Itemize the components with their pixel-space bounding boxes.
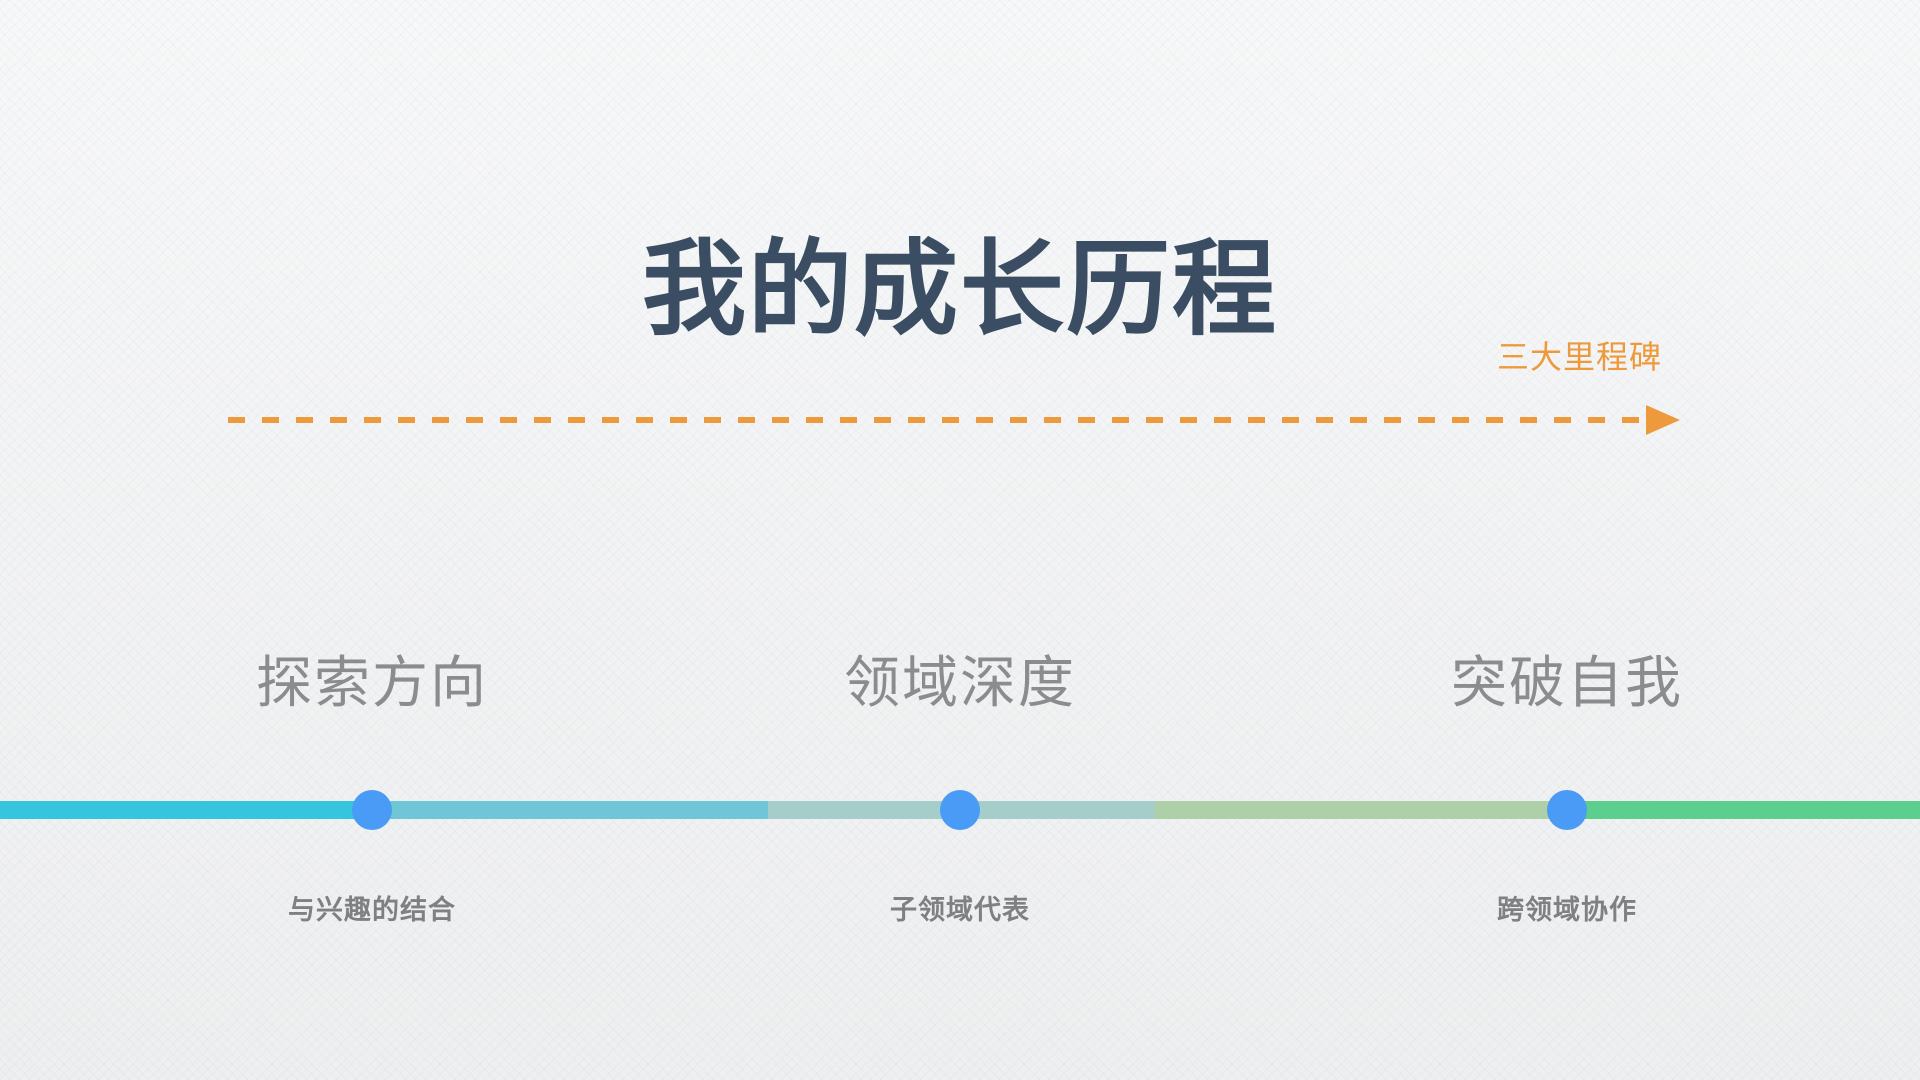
dashed-arrow xyxy=(228,405,1688,435)
milestone-2-title: 领域深度 xyxy=(844,638,1076,719)
dashed-line xyxy=(228,417,1648,423)
arrow-head-icon xyxy=(1646,405,1680,435)
milestone-1-title: 探索方向 xyxy=(256,638,488,719)
segment-green xyxy=(1567,801,1920,819)
milestone-3-caption: 跨领域协作 xyxy=(1497,888,1637,927)
slide-canvas: 我的成长历程 三大里程碑 探索方向领域深度突破自我 与兴趣的结合子领域代表跨领域… xyxy=(0,0,1920,1080)
kicker-subtitle: 三大里程碑 xyxy=(1497,332,1662,378)
page-title: 我的成长历程 xyxy=(0,232,1920,348)
milestone-3-title: 突破自我 xyxy=(1451,638,1683,719)
milestone-1-dot-icon[interactable] xyxy=(352,790,392,830)
segment-teal xyxy=(372,801,768,819)
segment-pale-green xyxy=(1155,801,1567,819)
milestone-2-dot-icon[interactable] xyxy=(940,790,980,830)
milestone-1-caption: 与兴趣的结合 xyxy=(288,888,456,927)
milestone-2-caption: 子领域代表 xyxy=(890,888,1030,927)
milestone-3-dot-icon[interactable] xyxy=(1547,790,1587,830)
segment-cyan xyxy=(0,801,372,819)
